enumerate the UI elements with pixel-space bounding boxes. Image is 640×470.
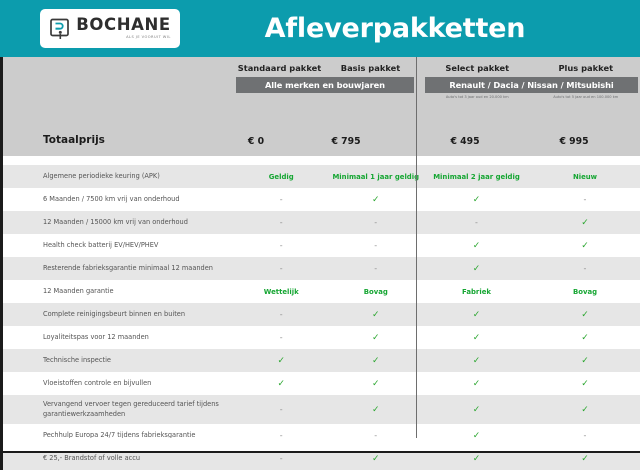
total-price-label: Totaalprijs (43, 134, 105, 146)
package-subnote-plus: Auto's tot 5 jaar oud en 100.000 km (532, 95, 640, 99)
cell-plus: - (530, 257, 640, 280)
package-badge-brands: Renault / Dacia / Nissan / Mitsubishi (425, 77, 638, 93)
cell-plus: Bovag (530, 280, 640, 303)
table-row: Vervangend vervoer tegen gereduceerd tar… (3, 395, 640, 424)
dash-icon: - (280, 264, 283, 273)
cell-select: ✓ (423, 395, 530, 424)
dash-icon: - (584, 264, 587, 273)
feature-label: 6 Maanden / 7500 km vrij van onderhoud (3, 195, 234, 205)
table-row: 12 Maanden / 15000 km vrij van onderhoud… (3, 211, 640, 234)
cell-basis: Bovag (329, 280, 424, 303)
check-icon: ✓ (372, 454, 380, 464)
check-icon: ✓ (581, 379, 589, 389)
check-icon: ✓ (581, 405, 589, 415)
check-icon: ✓ (473, 379, 481, 389)
dash-icon: - (475, 218, 478, 227)
cell-basis: - (329, 211, 424, 234)
check-icon: ✓ (581, 333, 589, 343)
table-row: 6 Maanden / 7500 km vrij van onderhoud-✓… (3, 188, 640, 211)
table-row: Health check batterij EV/HEV/PHEV--✓✓ (3, 234, 640, 257)
cell-basis: ✓ (329, 188, 424, 211)
column-group-divider (416, 57, 417, 438)
row-values: GeldigMinimaal 1 jaar geldigMinimaal 2 j… (234, 165, 640, 188)
row-values: -✓✓✓ (234, 395, 640, 424)
check-icon: ✓ (581, 454, 589, 464)
row-values: -✓✓✓ (234, 326, 640, 349)
feature-label: Complete reinigingsbeurt binnen en buite… (3, 310, 234, 320)
cell-text: Nieuw (573, 173, 597, 181)
cell-basis: ✓ (329, 303, 424, 326)
check-icon: ✓ (372, 379, 380, 389)
package-name-standaard: Standaard pakket (234, 63, 325, 73)
feature-label: € 25,- Brandstof of volle accu (3, 454, 234, 464)
cell-select: ✓ (423, 188, 530, 211)
cell-text: Geldig (269, 173, 294, 181)
dash-icon: - (280, 241, 283, 250)
check-icon: ✓ (581, 356, 589, 366)
cell-plus: ✓ (530, 234, 640, 257)
afleverpakketten-page: BOCHANE ALS JE VOORUIT WIL Afleverpakket… (0, 0, 640, 453)
check-icon: ✓ (372, 195, 380, 205)
feature-label: Resterende fabrieksgarantie minimaal 12 … (3, 264, 234, 274)
band-spacer (0, 156, 640, 165)
table-row: Loyaliteitspas voor 12 maanden-✓✓✓ (3, 326, 640, 349)
dash-icon: - (374, 241, 377, 250)
check-icon: ✓ (372, 333, 380, 343)
dash-icon: - (584, 195, 587, 204)
cell-standaard: - (234, 234, 329, 257)
cell-plus: - (530, 188, 640, 211)
cell-basis: - (329, 257, 424, 280)
dash-icon: - (280, 405, 283, 414)
check-icon: ✓ (581, 218, 589, 228)
cell-text: Minimaal 1 jaar geldig (332, 173, 419, 181)
row-values: ✓✓✓✓ (234, 349, 640, 372)
dash-icon: - (280, 218, 283, 227)
cell-plus: ✓ (530, 395, 640, 424)
cell-basis: ✓ (329, 395, 424, 424)
cell-plus: ✓ (530, 326, 640, 349)
check-icon: ✓ (372, 405, 380, 415)
cell-basis: ✓ (329, 326, 424, 349)
total-price-row: Totaalprijs € 0 € 795 € 495 € 995 (0, 128, 640, 156)
package-header-band: Standaard pakket Basis pakket Alle merke… (0, 57, 640, 128)
cell-select: Minimaal 2 jaar geldig (423, 165, 530, 188)
feature-label: Vloeistoffen controle en bijvullen (3, 379, 234, 389)
cell-select: ✓ (423, 257, 530, 280)
cell-plus: ✓ (530, 303, 640, 326)
check-icon: ✓ (473, 356, 481, 366)
cell-standaard: Wettelijk (234, 280, 329, 303)
cell-standaard: - (234, 188, 329, 211)
package-badge-all-brands: Alle merken en bouwjaren (236, 77, 414, 93)
cell-basis: - (329, 234, 424, 257)
price-standaard: € 0 (211, 136, 301, 147)
dash-icon: - (280, 333, 283, 342)
row-values: ✓✓✓✓ (234, 372, 640, 395)
row-values: -✓✓✓ (234, 303, 640, 326)
row-values: ---✓ (234, 211, 640, 234)
dash-icon: - (374, 264, 377, 273)
package-subnote-select: Auto's tot 3 jaar oud en 20.000 km (423, 95, 532, 99)
cell-plus: ✓ (530, 372, 640, 395)
table-row: Vloeistoffen controle en bijvullen✓✓✓✓ (3, 372, 640, 395)
table-row: Resterende fabrieksgarantie minimaal 12 … (3, 257, 640, 280)
cell-standaard: - (234, 303, 329, 326)
check-icon: ✓ (473, 241, 481, 251)
check-icon: ✓ (581, 310, 589, 320)
feature-label: 12 Maanden / 15000 km vrij van onderhoud (3, 218, 234, 228)
cell-standaard: - (234, 326, 329, 349)
package-group-all-brands: Standaard pakket Basis pakket Alle merke… (234, 57, 416, 128)
table-row: Algemene periodieke keuring (APK)GeldigM… (3, 165, 640, 188)
cell-standaard: - (234, 395, 329, 424)
table-row: Complete reinigingsbeurt binnen en buite… (3, 303, 640, 326)
cell-plus: ✓ (530, 349, 640, 372)
price-plus: € 995 (529, 136, 619, 147)
cell-basis: ✓ (329, 349, 424, 372)
row-values: -✓✓- (234, 188, 640, 211)
cell-standaard: Geldig (234, 165, 329, 188)
feature-label: Vervangend vervoer tegen gereduceerd tar… (3, 400, 234, 420)
cell-standaard: - (234, 257, 329, 280)
cell-standaard: - (234, 211, 329, 234)
cell-select: ✓ (423, 234, 530, 257)
check-icon: ✓ (473, 405, 481, 415)
price-select: € 495 (420, 136, 510, 147)
check-icon: ✓ (473, 454, 481, 464)
check-icon: ✓ (473, 264, 481, 274)
feature-label: 12 Maanden garantie (3, 287, 234, 297)
feature-label: Technische inspectie (3, 356, 234, 366)
check-icon: ✓ (277, 356, 285, 366)
cell-select: ✓ (423, 372, 530, 395)
check-icon: ✓ (473, 195, 481, 205)
feature-label: Loyaliteitspas voor 12 maanden (3, 333, 234, 343)
row-values: --✓- (234, 257, 640, 280)
cell-text: Fabriek (462, 288, 491, 296)
cell-standaard: ✓ (234, 349, 329, 372)
row-values: --✓✓ (234, 234, 640, 257)
price-basis: € 795 (301, 136, 391, 147)
cell-text: Wettelijk (264, 288, 299, 296)
cell-select: ✓ (423, 349, 530, 372)
cell-plus: ✓ (530, 211, 640, 234)
table-bottom-frame (0, 438, 640, 453)
cell-text: Minimaal 2 jaar geldig (433, 173, 520, 181)
cell-select: Fabriek (423, 280, 530, 303)
feature-label: Algemene periodieke keuring (APK) (3, 172, 234, 182)
row-values: WettelijkBovagFabriekBovag (234, 280, 640, 303)
check-icon: ✓ (473, 333, 481, 343)
page-title: Afleverpakketten (0, 13, 640, 44)
feature-label: Health check batterij EV/HEV/PHEV (3, 241, 234, 251)
package-name-plus: Plus pakket (532, 63, 640, 73)
package-name-basis: Basis pakket (325, 63, 416, 73)
check-icon: ✓ (473, 310, 481, 320)
cell-basis: ✓ (329, 372, 424, 395)
cell-plus: Nieuw (530, 165, 640, 188)
cell-select: - (423, 211, 530, 234)
package-name-select: Select pakket (423, 63, 532, 73)
dash-icon: - (374, 218, 377, 227)
cell-basis: Minimaal 1 jaar geldig (329, 165, 424, 188)
package-group-brands: Select pakket Plus pakket Renault / Daci… (423, 57, 640, 128)
feature-comparison-table: Algemene periodieke keuring (APK)GeldigM… (0, 165, 640, 470)
dash-icon: - (280, 195, 283, 204)
cell-select: ✓ (423, 326, 530, 349)
check-icon: ✓ (372, 356, 380, 366)
check-icon: ✓ (372, 310, 380, 320)
cell-text: Bovag (573, 288, 597, 296)
cell-select: ✓ (423, 303, 530, 326)
cell-text: Bovag (364, 288, 388, 296)
table-row: Technische inspectie✓✓✓✓ (3, 349, 640, 372)
table-row: 12 Maanden garantieWettelijkBovagFabriek… (3, 280, 640, 303)
dash-icon: - (280, 454, 283, 463)
check-icon: ✓ (277, 379, 285, 389)
dash-icon: - (280, 310, 283, 319)
cell-standaard: ✓ (234, 372, 329, 395)
page-header: BOCHANE ALS JE VOORUIT WIL Afleverpakket… (0, 0, 640, 57)
check-icon: ✓ (581, 241, 589, 251)
